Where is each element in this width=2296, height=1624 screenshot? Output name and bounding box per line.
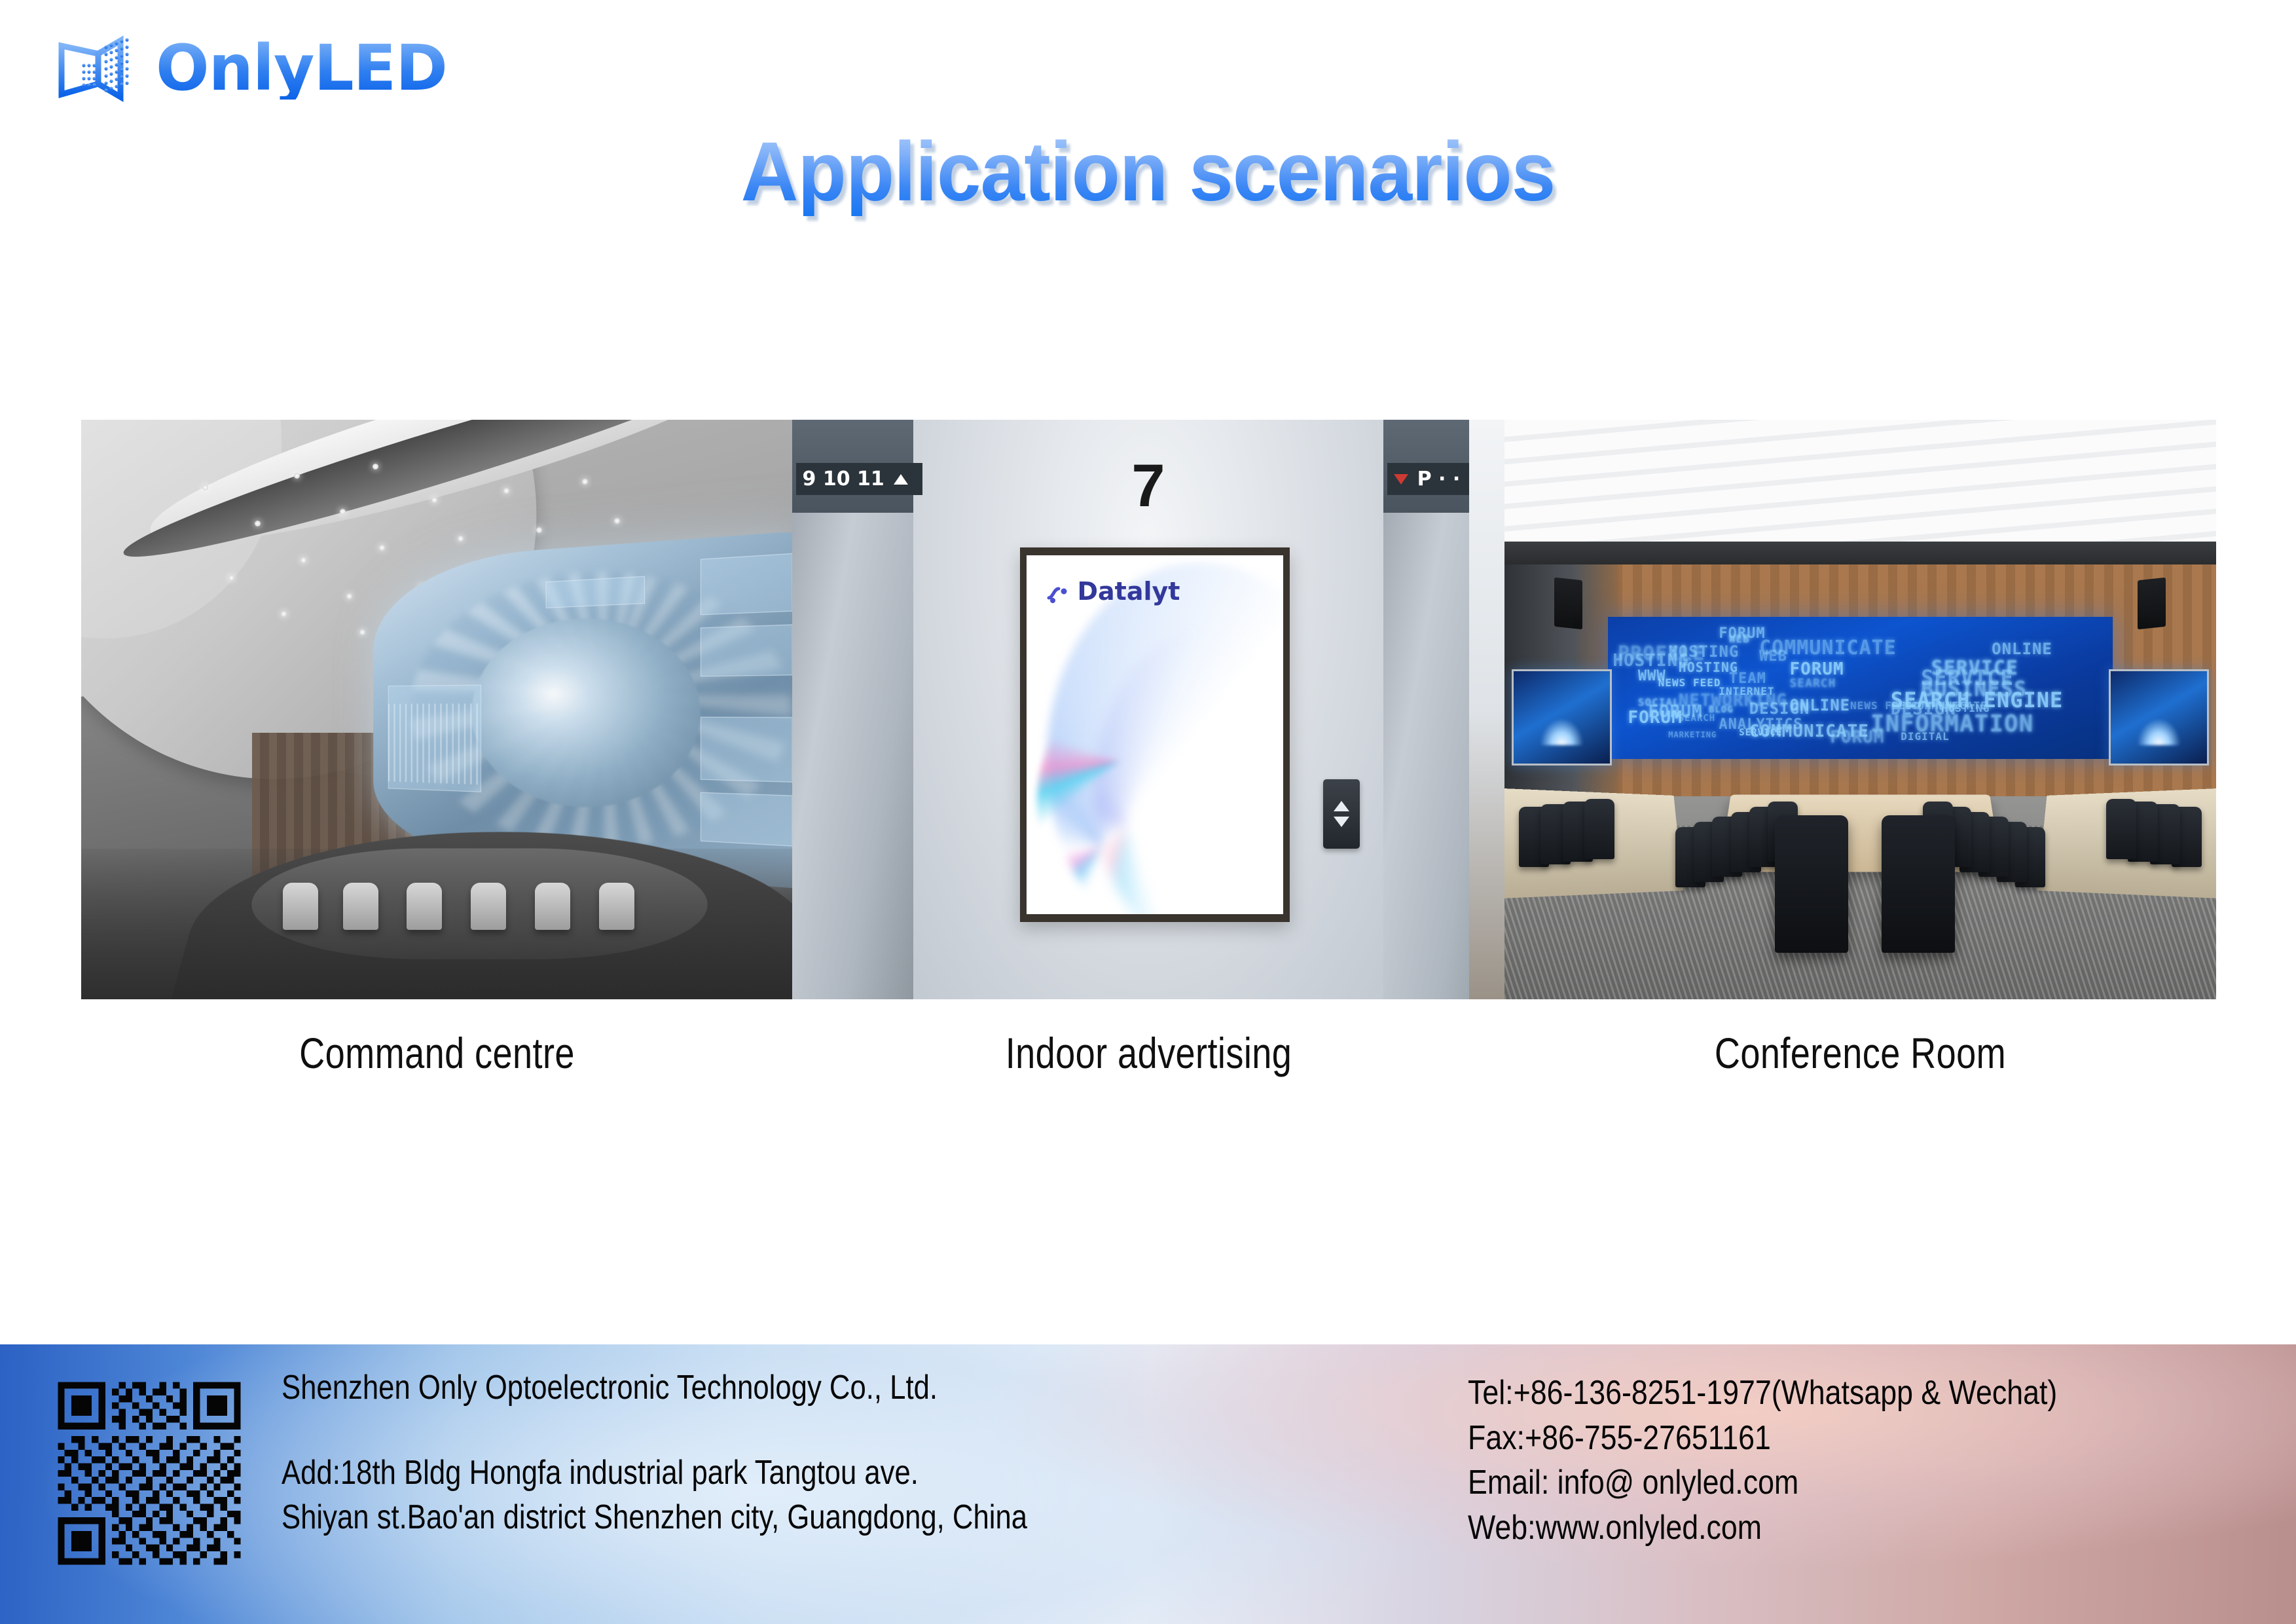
greyscale-overlay: [81, 420, 792, 999]
scenario-image-indoor-advertising[interactable]: 9 10 11 P · · 1 7: [792, 420, 1504, 999]
page-title: Application scenarios: [58, 128, 2239, 216]
led-wall-word: INFORMATION: [1870, 710, 2033, 737]
ceiling-shadow-band: [1504, 542, 2216, 564]
led-wall-word: FORUM: [1830, 728, 1884, 747]
brand-name: OnlyLED: [156, 37, 447, 100]
led-wall-word: HOSTING: [1668, 642, 1739, 661]
led-wall-word: DIGITAL: [1901, 730, 1949, 743]
poster-brand: Datalyt: [1047, 577, 1180, 606]
digital-advertising-poster[interactable]: Datalyt: [1020, 547, 1290, 923]
led-wall-word: SOCIAL: [1638, 696, 1680, 709]
led-wall-word: SERVICE: [1739, 728, 1782, 738]
led-wall-word: ONLINE: [1789, 696, 1850, 714]
scenario-image-command-centre[interactable]: [81, 420, 792, 999]
foreground-chair-right: [1882, 815, 1955, 953]
footer-contact-block: Tel:+86-136-8251-1977(Whatsapp & Wechat)…: [1468, 1371, 2057, 1551]
led-wall-word: SEARCH: [1789, 676, 1836, 690]
address-line-2: Shiyan st.Bao'an district Shenzhen city,…: [282, 1500, 1027, 1534]
slide-page: OnlyLED Application scenarios: [0, 0, 2296, 1624]
led-wall-word: MARKETING: [1668, 730, 1717, 739]
call-up-icon: [1334, 801, 1349, 811]
side-display-left: [1512, 669, 1612, 766]
chair-row-far-right: [2102, 767, 2202, 895]
elevator-call-button-panel[interactable]: [1323, 779, 1360, 849]
contact-email[interactable]: Email: info@ onlyled.com: [1468, 1460, 2057, 1505]
gallery-captions: Command centre Indoor advertising Confer…: [81, 1028, 2216, 1078]
footer-address-block: Shenzhen Only Optoelectronic Technology …: [282, 1371, 1027, 1534]
speaker-right-icon: [2138, 578, 2166, 630]
contact-fax: Fax:+86-755-27651161: [1468, 1416, 2057, 1461]
led-wall-word: SEARCH: [1679, 713, 1716, 724]
datalyt-label: Datalyt: [1077, 577, 1180, 606]
caption-conference-room: Conference Room: [1569, 1028, 2152, 1078]
company-name: Shenzhen Only Optoelectronic Technology …: [282, 1371, 1027, 1405]
floor-number-sign: 7: [792, 452, 1504, 521]
led-wall-word: FORUM: [1628, 708, 1682, 728]
call-down-icon: [1334, 817, 1349, 827]
side-display-right: [2109, 669, 2209, 766]
caption-indoor-advertising: Indoor advertising: [857, 1028, 1440, 1078]
caption-command-centre: Command centre: [145, 1028, 729, 1078]
slatted-ceiling: [1504, 420, 2216, 559]
main-led-video-wall: PROFILEHOSTINGFORUMHOSTINGWEBCOMMUNICATE…: [1608, 617, 2113, 759]
led-wall-word: NEWS FEED: [1658, 676, 1721, 689]
speaker-left-icon: [1554, 578, 1582, 630]
poster-gradient-swirl-3: [1037, 699, 1176, 907]
led-wall-word: ONLINE: [1992, 640, 2052, 658]
contact-tel[interactable]: Tel:+86-136-8251-1977(Whatsapp & Wechat): [1468, 1371, 2057, 1416]
contact-web[interactable]: Web:www.onlyled.com: [1468, 1505, 2057, 1551]
scenario-image-conference-room[interactable]: PROFILEHOSTINGFORUMHOSTINGWEBCOMMUNICATE…: [1504, 420, 2216, 999]
chair-row-far-left: [1519, 767, 1618, 895]
onlyled-panel-icon: [58, 34, 139, 102]
datalyt-logo-icon: [1047, 581, 1069, 601]
address-line-1: Add:18th Bldg Hongfa industrial park Tan…: [282, 1456, 1027, 1490]
qr-code-icon[interactable]: [51, 1375, 247, 1572]
scenario-gallery: 9 10 11 P · · 1 7: [81, 420, 2216, 999]
brand-logo[interactable]: OnlyLED: [58, 34, 447, 102]
led-wall-word: WEB: [1759, 648, 1787, 665]
foreground-chair-left: [1775, 815, 1848, 953]
